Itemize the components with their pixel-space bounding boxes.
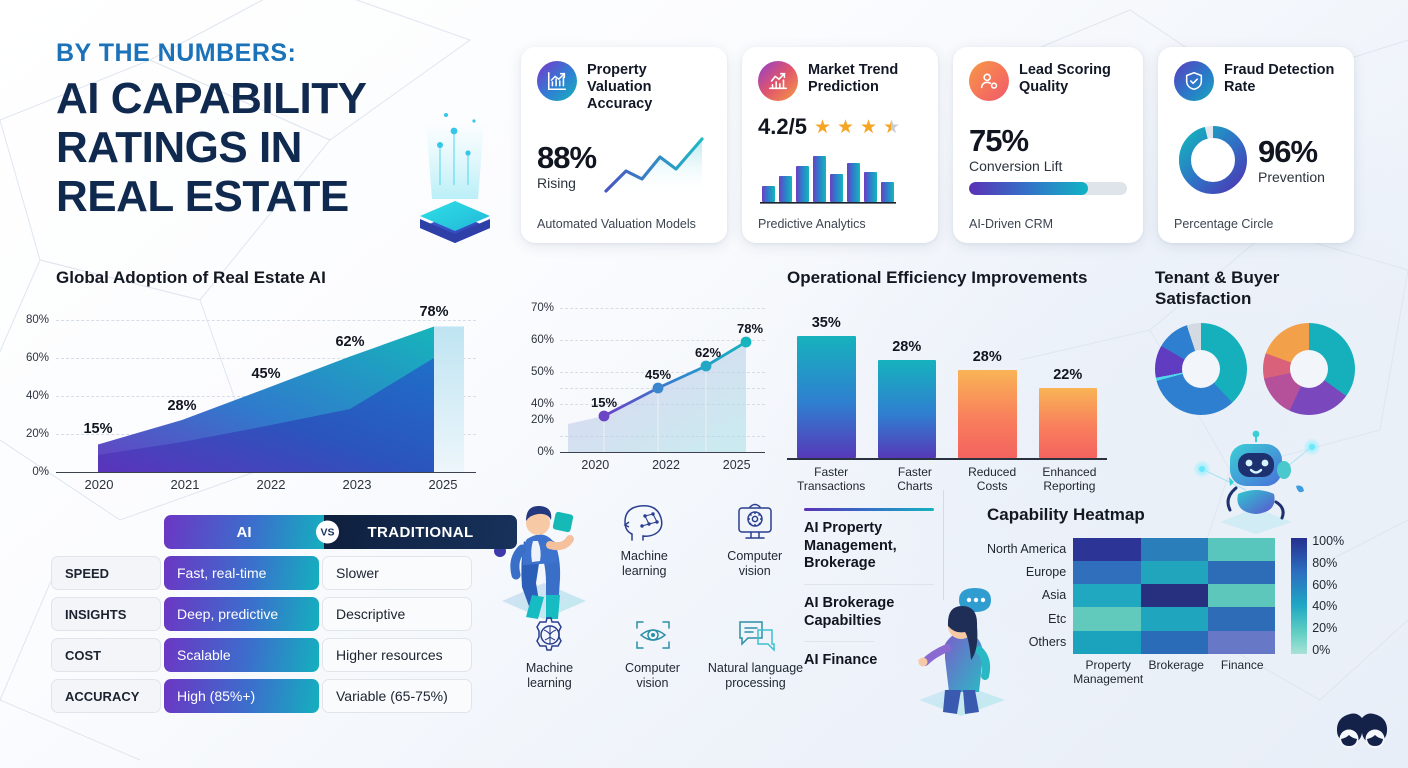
list-separator [804, 584, 934, 585]
x-axis-tick: 2025 [400, 477, 486, 492]
cell-ai: High (85%+) [164, 679, 319, 713]
capability-item-computer-vision-2[interactable]: Computervision [603, 612, 702, 691]
kpi-card-market-trend[interactable]: Market Trend Prediction 4.2/5 ★ ★ ★ ★ [742, 47, 938, 243]
card-footer: AI-Driven CRM [969, 215, 1127, 231]
y-axis-tick: 70% [531, 302, 554, 314]
card-footer: Predictive Analytics [758, 215, 922, 231]
heatmap-cell[interactable] [1208, 631, 1275, 654]
ai-vs-traditional-table: AI TRADITIONAL VS SPEED Fast, real-time … [51, 515, 517, 713]
bar[interactable] [958, 370, 1017, 458]
list-item[interactable]: AI Finance [804, 652, 934, 670]
x-axis-tick: Reduced Costs [965, 465, 1020, 494]
kpi-value: 75% [969, 125, 1127, 156]
line-chart-plot: 70% 60% 50% 40% 20% 0% 15% [560, 300, 765, 455]
list-item[interactable]: AI Property Management, Brokerage [804, 520, 934, 573]
rating-row: 4.2/5 ★ ★ ★ ★ [758, 114, 899, 140]
bar[interactable] [797, 336, 856, 458]
page-title: AI CAPABILITY RATINGS IN REAL ESTATE [56, 74, 486, 222]
market-bars-trend-icon [758, 61, 798, 101]
legend-tick: 40% [1312, 600, 1344, 613]
heatmap-col-label: Finance [1209, 658, 1275, 687]
bar-value-label: 22% [1053, 367, 1082, 383]
x-axis-labels: 2020 2021 2022 2023 2025 [56, 477, 486, 492]
bar[interactable] [1039, 388, 1098, 458]
card-title: Lead Scoring Quality [1019, 61, 1127, 96]
capability-item-nlp[interactable]: Natural languageprocessing [706, 612, 805, 691]
card-header: Market Trend Prediction [758, 61, 922, 101]
heatmap-cell[interactable] [1073, 607, 1140, 630]
hero-title-line-1: AI CAPABILITY [56, 74, 486, 123]
shield-check-icon [1174, 61, 1214, 101]
x-axis-tick: 2023 [314, 477, 400, 492]
heatmap-cell[interactable] [1208, 538, 1275, 561]
chat-bubbles-icon [730, 612, 782, 658]
heatmap-column-labels: Property Management Brokerage Finance [1073, 658, 1275, 687]
card-title: Property Valuation Accuracy [587, 61, 711, 113]
y-axis-tick: 40% [531, 398, 554, 410]
bar[interactable] [878, 360, 937, 458]
monitor-lock-icon [729, 500, 781, 546]
y-axis-tick: 20% [26, 428, 49, 440]
capability-icon-grid-row2: Machinelearning Computervision Natural l… [500, 612, 805, 691]
heatmap-row-label: Europe [987, 566, 1066, 579]
capability-label: Natural languageprocessing [708, 661, 803, 691]
data-point-label: 15% [83, 421, 112, 437]
heatmap-cell[interactable] [1141, 607, 1208, 630]
row-label: SPEED [51, 556, 161, 590]
cell-ai: Fast, real-time [164, 556, 319, 590]
donut-section-title: Tenant & Buyer Satisfaction [1155, 268, 1405, 309]
heatmap-cell[interactable] [1073, 584, 1140, 607]
operational-efficiency-chart: Operational Efficiency Improvements 35% … [787, 268, 1107, 494]
cell-traditional: Slower [322, 556, 472, 590]
hero-kicker: BY THE NUMBERS: [56, 40, 486, 68]
mini-bar-chart [758, 144, 898, 206]
tenant-buyer-satisfaction: Tenant & Buyer Satisfaction [1155, 268, 1405, 415]
global-adoption-chart: Global Adoption of Real Estate AI 80% 60… [56, 268, 486, 492]
legend-tick: 60% [1312, 579, 1344, 592]
brand-logo-icon [1336, 712, 1388, 756]
x-axis-tick: 2025 [701, 458, 772, 472]
heatmap-cell[interactable] [1141, 538, 1208, 561]
star-half-icon: ★ [883, 116, 899, 139]
x-axis-tick: Faster Transactions [797, 465, 865, 494]
heatmap-row-labels: North America Europe Asia Etc Others [987, 538, 1066, 654]
heatmap-row-label: Others [987, 636, 1066, 649]
card-header: Fraud Detection Rate [1174, 61, 1338, 101]
heatmap-cell[interactable] [1208, 607, 1275, 630]
heatmap-row-label: North America [987, 543, 1066, 556]
legend-tick: 0% [1312, 644, 1344, 657]
bar-column: 35% [797, 305, 856, 458]
card-body: 96% Prevention [1174, 105, 1338, 215]
data-point-label: 78% [737, 321, 763, 336]
y-axis-tick: 0% [537, 446, 554, 458]
kpi-sublabel: Rising [537, 175, 596, 191]
card-title: Fraud Detection Rate [1224, 61, 1338, 96]
data-point-label: 62% [695, 345, 721, 360]
capability-label: Computervision [625, 661, 680, 691]
table-row: COST Scalable Higher resources [51, 638, 517, 672]
rating-value: 4.2/5 [758, 114, 807, 140]
data-point-label: 45% [645, 367, 671, 382]
bar-chart-title: Operational Efficiency Improvements [787, 268, 1107, 289]
y-axis-tick: 60% [531, 334, 554, 346]
kpi-sublabel: Conversion Lift [969, 158, 1127, 174]
card-title: Market Trend Prediction [808, 61, 922, 96]
cell-ai: Scalable [164, 638, 319, 672]
ai-topics-list: AI Property Management, Brokerage AI Bro… [804, 508, 934, 670]
row-label: INSIGHTS [51, 597, 161, 631]
heatmap-cell[interactable] [1208, 584, 1275, 607]
bar-chart-trend-icon [537, 61, 577, 101]
cell-traditional: Variable (65-75%) [322, 679, 472, 713]
table-row: SPEED Fast, real-time Slower [51, 556, 517, 590]
area-chart-title: Global Adoption of Real Estate AI [56, 268, 486, 289]
area-chart-plot: 80% 60% 40% 20% 0% 15% [56, 303, 476, 473]
bar-column: 22% [1039, 305, 1098, 458]
y-axis-tick: 40% [26, 390, 49, 402]
progress-bar-track [969, 182, 1127, 195]
percentage-donut-chart [1174, 121, 1252, 199]
adoption-line-chart: 70% 60% 50% 40% 20% 0% 15% [512, 300, 772, 472]
x-axis-tick: 2021 [142, 477, 228, 492]
eye-scan-icon [627, 612, 679, 658]
heatmap-cell[interactable] [1073, 561, 1140, 584]
y-axis-tick: 50% [531, 366, 554, 378]
sparkline-chart [602, 133, 710, 199]
star-icon: ★ [814, 116, 830, 139]
heatmap-row-label: Etc [987, 613, 1066, 626]
kpi-card-fraud-detection[interactable]: Fraud Detection Rate 96% Prevention Perc… [1158, 47, 1354, 243]
capability-label: Machinelearning [526, 661, 573, 691]
card-body: 88% Rising [537, 117, 711, 215]
hero-heading-block: BY THE NUMBERS: AI CAPABILITY RATINGS IN… [56, 40, 486, 221]
heatmap-cell[interactable] [1141, 631, 1208, 654]
user-score-icon [969, 61, 1009, 101]
data-point-label: 62% [335, 334, 364, 350]
heatmap-cell[interactable] [1073, 538, 1140, 561]
x-axis-tick: Faster Charts [887, 465, 942, 494]
bar-chart-x-labels: Faster Transactions Faster Charts Reduce… [787, 465, 1107, 494]
capability-item-machine-learning[interactable]: Machinelearning [592, 500, 697, 579]
row-label: ACCURACY [51, 679, 161, 713]
capability-label: Machinelearning [621, 549, 668, 579]
legend-tick-labels: 100% 80% 60% 40% 20% 0% [1312, 535, 1344, 657]
kpi-card-property-valuation[interactable]: Property Valuation Accuracy 88% Rising [521, 47, 727, 243]
legend-color-scale [1291, 538, 1307, 654]
column-header-ai: AI [164, 515, 324, 549]
capability-label: Computervision [727, 549, 782, 579]
star-icon: ★ [860, 116, 876, 139]
legend-tick: 100% [1312, 535, 1344, 548]
heatmap-cell[interactable] [1073, 631, 1140, 654]
heatmap-row-label: Asia [987, 589, 1066, 602]
kpi-value: 96% [1258, 136, 1325, 167]
brain-head-icon [618, 500, 670, 546]
kpi-card-row: Property Valuation Accuracy 88% Rising [521, 47, 1354, 243]
area-series [56, 303, 476, 473]
donut-chart-right[interactable] [1263, 323, 1355, 415]
y-axis-tick: 0% [32, 466, 49, 478]
bar-value-label: 28% [973, 349, 1002, 365]
row-label: COST [51, 638, 161, 672]
heatmap-col-label: Property Management [1073, 658, 1143, 687]
data-point-label: 28% [167, 398, 196, 414]
hero-title-line-3: REAL ESTATE [56, 172, 486, 221]
star-icon: ★ [837, 116, 853, 139]
data-point-label: 78% [419, 304, 448, 320]
accent-rule [804, 508, 934, 511]
bar-chart-plot: 35% 28% 28% 22% [787, 305, 1107, 460]
heatmap-legend: 100% 80% 60% 40% 20% 0% [1291, 538, 1344, 687]
capability-item-computer-vision[interactable]: Computervision [703, 500, 808, 579]
card-footer: Automated Valuation Models [537, 215, 711, 231]
heatmap-col-label: Brokerage [1143, 658, 1209, 687]
table-header-row: AI TRADITIONAL VS [164, 515, 517, 549]
kpi-card-lead-scoring[interactable]: Lead Scoring Quality 75% Conversion Lift… [953, 47, 1143, 243]
card-body: 75% Conversion Lift [969, 105, 1127, 215]
x-axis-tick: 2022 [631, 458, 702, 472]
x-axis-labels: 2020 2022 2025 [560, 458, 772, 472]
bar-column: 28% [878, 305, 937, 458]
gear-brain-icon [524, 612, 576, 658]
y-axis-tick: 60% [26, 352, 49, 364]
card-footer: Percentage Circle [1174, 215, 1338, 231]
list-item[interactable]: AI Brokerage Capabilties [804, 595, 934, 630]
donut-row [1155, 323, 1405, 415]
x-axis-tick: Enhanced Reporting [1042, 465, 1097, 494]
cell-ai: Deep, predictive [164, 597, 319, 631]
capability-item-machine-learning-2[interactable]: Machinelearning [500, 612, 599, 691]
donut-chart-left[interactable] [1155, 323, 1247, 415]
bar-value-label: 28% [892, 339, 921, 355]
heatmap-title: Capability Heatmap [987, 505, 1344, 526]
bar-value-label: 35% [812, 315, 841, 331]
progress-bar-fill [969, 182, 1088, 195]
table-row: INSIGHTS Deep, predictive Descriptive [51, 597, 517, 631]
legend-tick: 20% [1312, 622, 1344, 635]
vs-badge: VS [316, 521, 339, 544]
card-header: Lead Scoring Quality [969, 61, 1127, 101]
kpi-sublabel: Prevention [1258, 169, 1325, 185]
cell-traditional: Descriptive [322, 597, 472, 631]
list-separator [804, 641, 874, 642]
hero-title-line-2: RATINGS IN [56, 123, 486, 172]
x-axis-tick: 2020 [56, 477, 142, 492]
heatmap-grid [1073, 538, 1275, 654]
legend-tick: 80% [1312, 557, 1344, 570]
data-point-label: 45% [251, 366, 280, 382]
cell-traditional: Higher resources [322, 638, 472, 672]
heatmap-cell[interactable] [1141, 584, 1208, 607]
bar-column: 28% [958, 305, 1017, 458]
card-header: Property Valuation Accuracy [537, 61, 711, 113]
x-axis-tick: 2022 [228, 477, 314, 492]
table-row: ACCURACY High (85%+) Variable (65-75%) [51, 679, 517, 713]
donut-title-line2: Satisfaction [1155, 289, 1405, 310]
card-body: 4.2/5 ★ ★ ★ ★ [758, 105, 922, 215]
kpi-value: 88% [537, 142, 596, 173]
capability-heatmap: Capability Heatmap North America Europe … [987, 505, 1344, 687]
data-point-label: 15% [591, 395, 617, 410]
column-header-traditional: TRADITIONAL [324, 515, 517, 549]
y-axis-tick: 80% [26, 314, 49, 326]
heatmap-cell[interactable] [1208, 561, 1275, 584]
capability-icon-grid-row1: Machinelearning Computervision [592, 500, 807, 579]
donut-title-line1: Tenant & Buyer [1155, 268, 1405, 289]
heatmap-body: North America Europe Asia Etc Others [987, 538, 1344, 687]
x-axis-tick: 2020 [560, 458, 631, 472]
heatmap-cell[interactable] [1141, 561, 1208, 584]
y-axis-tick: 20% [531, 414, 554, 426]
